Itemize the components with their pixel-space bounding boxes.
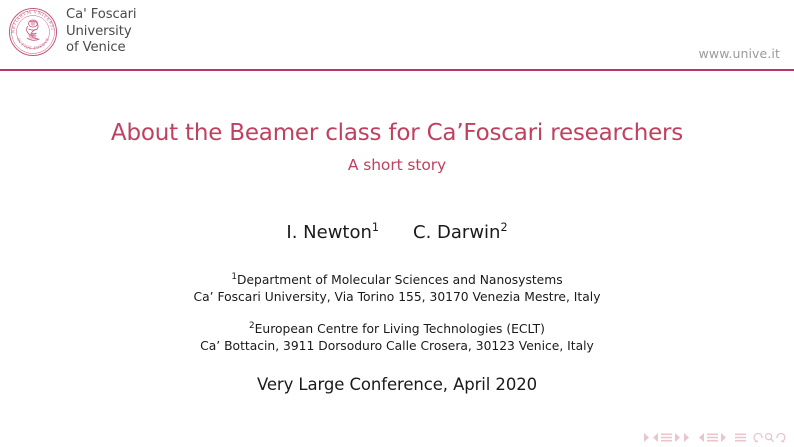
author-list: I. Newton1C. Darwin2: [0, 222, 794, 243]
frame-prev-icon[interactable]: [697, 432, 706, 443]
brand-line-3: of Venice: [66, 40, 136, 57]
presentation-title: About the Beamer class for Ca’Foscari re…: [0, 118, 794, 148]
affiliation-entry: 1Department of Molecular Sciences and Na…: [0, 272, 794, 305]
search-icon[interactable]: [764, 432, 775, 443]
slide-current-icon[interactable]: [660, 432, 673, 443]
slide-last-icon[interactable]: [682, 432, 691, 443]
slide-prev-icon[interactable]: [651, 432, 660, 443]
slide-next-icon[interactable]: [673, 432, 682, 443]
beamer-navigation-symbols[interactable]: [642, 432, 786, 443]
header-divider: [0, 69, 794, 71]
affiliation-organization: European Centre for Living Technologies …: [255, 322, 545, 336]
author-entry: I. Newton1: [286, 222, 379, 243]
affiliation-address: Ca’ Bottacin, 3911 Dorsoduro Calle Crose…: [0, 338, 794, 355]
university-seal-icon: VENETIARVM VNIVERSITAS IN FIDE FOEDVS: [8, 7, 58, 57]
presentation-subtitle: A short story: [0, 156, 794, 174]
document-navigation-group[interactable]: [753, 432, 786, 443]
slide-navigation-group[interactable]: [642, 432, 691, 443]
affiliation-list: 1Department of Molecular Sciences and Na…: [0, 272, 794, 354]
brand-line-2: University: [66, 24, 136, 41]
slide-header: VENETIARVM VNIVERSITAS IN FIDE FOEDVS: [0, 0, 794, 72]
subsection-navigation-group[interactable]: [734, 432, 747, 443]
affiliation-entry: 2European Centre for Living Technologies…: [0, 321, 794, 354]
brand-line-1: Ca' Foscari: [66, 7, 136, 24]
website-url: www.unive.it: [699, 46, 780, 61]
slide-first-icon[interactable]: [642, 432, 651, 443]
frame-next-icon[interactable]: [719, 432, 728, 443]
university-name: Ca' Foscari University of Venice: [66, 4, 136, 57]
author-affiliation-mark: 2: [500, 221, 507, 234]
svg-text:IN FIDE FOEDVS: IN FIDE FOEDVS: [16, 37, 50, 50]
affiliation-organization: Department of Molecular Sciences and Nan…: [237, 273, 563, 287]
subsection-current-icon[interactable]: [734, 432, 747, 443]
affiliation-address: Ca’ Foscari University, Via Torino 155, …: [0, 289, 794, 306]
section-forward-icon[interactable]: [775, 432, 786, 443]
author-name: I. Newton: [286, 222, 372, 243]
conference-date: Very Large Conference, April 2020: [0, 375, 794, 394]
author-affiliation-mark: 1: [372, 221, 379, 234]
author-name: C. Darwin: [413, 222, 500, 243]
presentation-slide: VENETIARVM VNIVERSITAS IN FIDE FOEDVS: [0, 0, 794, 447]
frame-current-icon[interactable]: [706, 432, 719, 443]
affiliation-organization-line: 1Department of Molecular Sciences and Na…: [0, 272, 794, 289]
frame-navigation-group[interactable]: [697, 432, 728, 443]
section-back-icon[interactable]: [753, 432, 764, 443]
author-entry: C. Darwin2: [413, 222, 508, 243]
affiliation-organization-line: 2European Centre for Living Technologies…: [0, 321, 794, 338]
university-brand: VENETIARVM VNIVERSITAS IN FIDE FOEDVS: [8, 4, 136, 57]
title-block: About the Beamer class for Ca’Foscari re…: [0, 118, 794, 174]
